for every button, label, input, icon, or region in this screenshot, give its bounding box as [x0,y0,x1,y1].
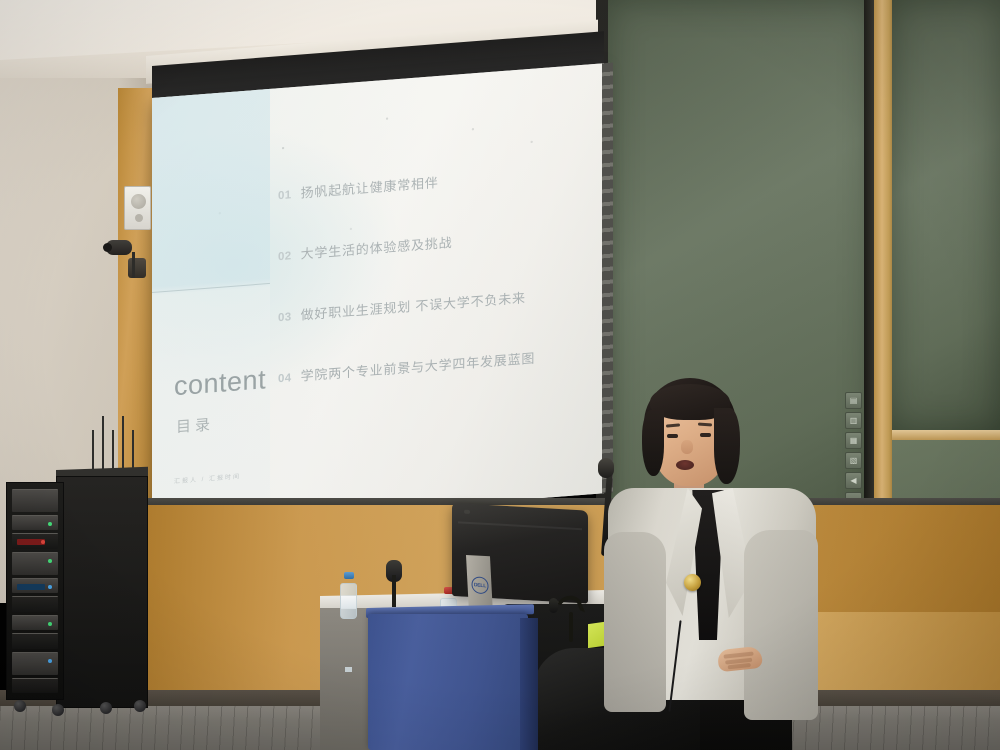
presenter [600,370,830,700]
av-rack-unit[interactable] [12,552,58,575]
av-rack-unit[interactable] [12,578,58,593]
av-rack-unit[interactable] [12,596,58,611]
gooseneck-mic-head [549,598,558,613]
microphone-stem-left [392,575,396,607]
slide-agenda-item: 03做好职业生涯规划 不误大学不负未来 [278,282,590,325]
rack-caster [14,700,26,712]
camera-mount-base [128,258,146,278]
gooseneck-mic-stem [569,612,573,642]
projection-screen: 01扬帆起航让健康常相伴02大学生活的体验感及挑战03做好职业生涯规划 不误大学… [152,63,604,528]
slide-agenda-item: 02大学生活的体验感及挑战 [278,221,590,264]
slide-agenda-text: 做好职业生涯规划 不误大学不负未来 [301,287,526,323]
antenna-group [92,410,136,476]
av-rack-body [56,476,148,708]
wall-control-button[interactable]: ▥ [845,412,862,429]
av-rack-unit[interactable] [12,533,58,548]
rack-led-icon [48,585,52,589]
av-rack-unit[interactable] [12,515,58,530]
slide-heading-cn: 目录 [176,413,214,437]
wall-control-button[interactable]: ▦ [845,432,862,449]
bottle-cap-blue [344,572,354,579]
av-rack-unit[interactable] [12,489,58,512]
rack-caster [134,700,146,712]
water-bottle-left[interactable] [340,573,357,619]
gold-brooch [684,574,701,591]
presenter-torso [608,488,816,700]
av-rack-unit[interactable] [12,652,58,675]
rack-led-icon [48,622,52,626]
slide-agenda-number: 03 [278,311,292,324]
av-rack-unit[interactable] [12,633,58,648]
security-camera-icon [106,240,132,255]
slide-agenda-number: 01 [278,189,292,202]
av-rack-unit[interactable] [12,678,58,693]
lecture-hall-photo: ▤▥▦▧◀▶✎✐✎⏻ 01扬帆起航让健康常相伴02大学生活的体验感及挑战03做好… [0,0,1000,750]
slide-agenda-item: 04学院两个专业前景与大学四年发展蓝图 [278,343,590,386]
slide-left-panel [152,89,270,528]
slide-agenda-number: 02 [278,250,292,263]
slide-agenda-text: 大学生活的体验感及挑战 [301,232,453,263]
presenter-hair-left [642,410,664,476]
rack-led-icon [48,522,52,526]
slide-agenda-text: 学院两个专业前景与大学四年发展蓝图 [301,348,536,385]
av-rack-equipment[interactable] [6,482,64,700]
dell-logo: DELL [471,575,488,594]
rack-caster [100,702,112,714]
camera-mount-arm [132,252,135,278]
presenter-arm-left [604,532,666,712]
rack-led-icon [48,659,52,663]
wireless-antenna [102,416,104,476]
presenter-hair-right [714,408,740,484]
slide-agenda-list: 01扬帆起航让健康常相伴02大学生活的体验感及挑战03做好职业生涯规划 不误大学… [278,160,590,428]
wall-control-button[interactable]: ▧ [845,452,862,469]
slide-agenda-number: 04 [278,372,292,385]
wall-control-button[interactable]: ▤ [845,392,862,409]
blackboard-panel-side[interactable] [892,0,1000,432]
podium-side [520,618,538,750]
rack-display-icon [17,584,45,590]
presenter-arm-right [744,530,818,720]
monitor-camera-icon [464,510,470,514]
wall-speaker-icon [124,186,151,230]
rack-led-icon [48,559,52,563]
podium: JILIN UNIVERSITY · CHINA 1946 [368,614,528,750]
rack-caster [52,704,64,716]
av-rack-unit[interactable] [12,615,58,630]
wall-control-button[interactable]: ◀ [845,472,862,489]
